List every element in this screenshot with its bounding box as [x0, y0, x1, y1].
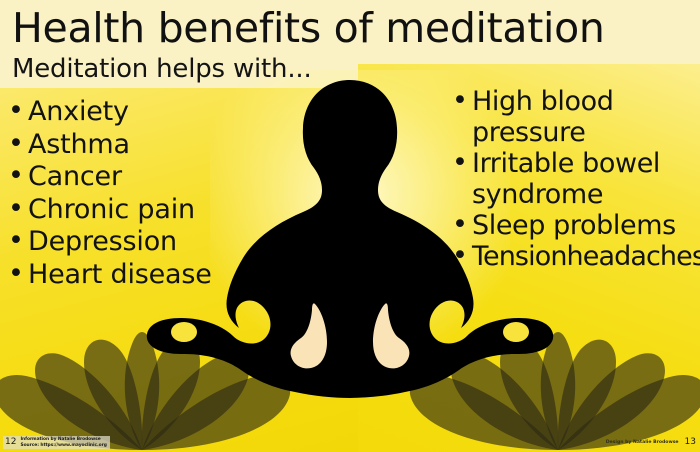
list-item: Sleep problems [452, 210, 700, 241]
list-item: Cancer [8, 161, 212, 194]
page-subtitle: Meditation helps with... [12, 54, 312, 84]
list-item: Anxiety [8, 96, 212, 129]
right-benefits-list: High blood pressure Irritable bowel synd… [452, 86, 700, 272]
page-number-left: 12 [5, 437, 16, 448]
footer-credit-left: 12 Information by Natalie Brodowse Sourc… [3, 436, 110, 449]
list-item: Heart disease [8, 259, 212, 292]
list-item: Irritable bowel syndrome [452, 148, 700, 210]
footer-credit-right: Design by Natalie Brodowse 13 [606, 437, 696, 448]
list-item: High blood pressure [452, 86, 700, 148]
list-item: Tensionheadaches [452, 241, 700, 272]
page-title: Health benefits of meditation [12, 4, 605, 52]
slide-canvas: Health benefits of meditation Meditation… [0, 0, 700, 452]
credit-source-line: Source: https://www.mayoclinic.org [20, 443, 106, 448]
page-number-right: 13 [685, 437, 696, 448]
credit-design-line: Design by Natalie Brodowse [606, 440, 679, 446]
list-item: Asthma [8, 129, 212, 162]
list-item: Chronic pain [8, 194, 212, 227]
left-benefits-list: Anxiety Asthma Cancer Chronic pain Depre… [8, 96, 212, 291]
list-item: Depression [8, 226, 212, 259]
